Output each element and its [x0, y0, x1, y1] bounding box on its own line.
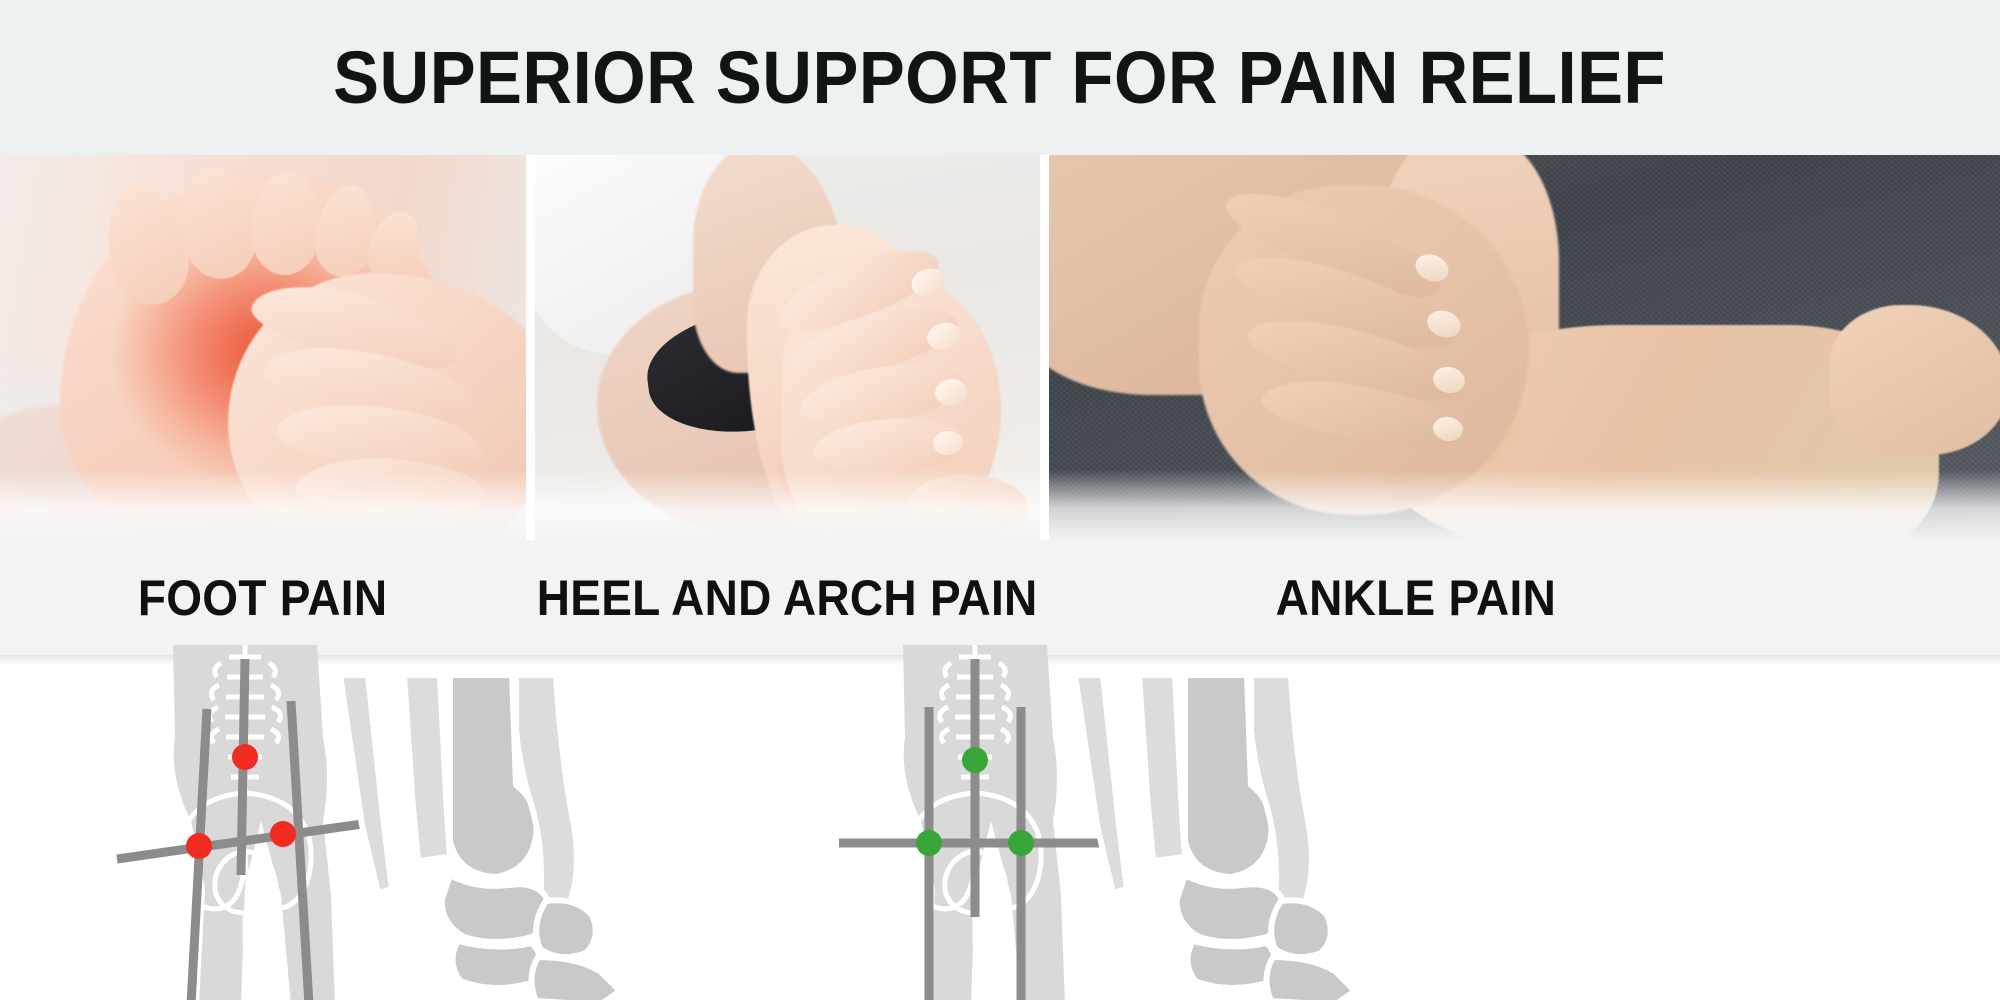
- diagram-ankle-skeleton-left: [300, 675, 630, 1000]
- pain-relief-infographic: SUPERIOR SUPPORT FOR PAIN RELIEF: [0, 0, 2000, 1000]
- caption-foot-pain: FOOT PAIN: [0, 540, 526, 655]
- photo-foot-pain: [0, 155, 526, 540]
- metatarsal-bones: [531, 957, 620, 1000]
- metatarsal-bones: [1266, 957, 1355, 1000]
- caption-label: ANKLE PAIN: [1276, 569, 1556, 627]
- caption-divider: [1040, 540, 1049, 655]
- caption-ankle-pain: ANKLE PAIN: [1049, 540, 2000, 655]
- caption-strip: FOOT PAIN HEEL AND ARCH PAIN ANKLE PAIN: [0, 540, 2000, 655]
- calcaneus-bone: [1251, 675, 1312, 907]
- navicular-bone: [1187, 941, 1276, 988]
- ankle-skeleton-right-svg: [1035, 675, 1365, 1000]
- photo-divider: [1040, 155, 1049, 540]
- marker-dot-right-hip: [1008, 830, 1034, 856]
- caption-label: FOOT PAIN: [138, 569, 388, 627]
- photo-strip: [0, 155, 2000, 540]
- alignment-diagram-section: [0, 665, 2000, 1000]
- caption-label: HEEL AND ARCH PAIN: [537, 569, 1038, 627]
- photo-heel-and-arch-pain: [535, 155, 1040, 540]
- talus-bone: [1177, 875, 1283, 942]
- tibia-shaft-outer: [1139, 675, 1185, 861]
- photo-bottom-fade: [1049, 470, 2000, 540]
- photo-bottom-fade: [535, 470, 1040, 540]
- talus-bone: [442, 875, 548, 942]
- ankle-skeleton-left-svg: [300, 675, 630, 1000]
- marker-dot-right-hip: [270, 821, 296, 847]
- navicular-bone: [452, 941, 541, 988]
- cuboid-bone: [536, 900, 596, 957]
- caption-heel-and-arch-pain: HEEL AND ARCH PAIN: [535, 540, 1040, 655]
- header-banner: SUPERIOR SUPPORT FOR PAIN RELIEF: [0, 0, 2000, 155]
- marker-dot-left-hip: [186, 833, 212, 859]
- photo-divider: [526, 155, 535, 540]
- diagram-ankle-skeleton-right: [1035, 675, 1365, 1000]
- fibula-bone: [1075, 675, 1127, 893]
- photo-bottom-fade: [0, 470, 526, 540]
- tibia-shaft-outer: [404, 675, 450, 861]
- photo-ankle-pain: [1049, 155, 2000, 540]
- page-title: SUPERIOR SUPPORT FOR PAIN RELIEF: [334, 35, 1667, 120]
- fibula-bone: [340, 675, 392, 893]
- cuboid-bone: [1271, 900, 1331, 957]
- marker-dot-spine: [232, 744, 258, 770]
- toes-shape: [1829, 305, 2000, 455]
- calcaneus-bone: [516, 675, 577, 907]
- caption-divider: [526, 540, 535, 655]
- marker-dot-left-hip: [916, 830, 942, 856]
- marker-dot-spine: [962, 747, 988, 773]
